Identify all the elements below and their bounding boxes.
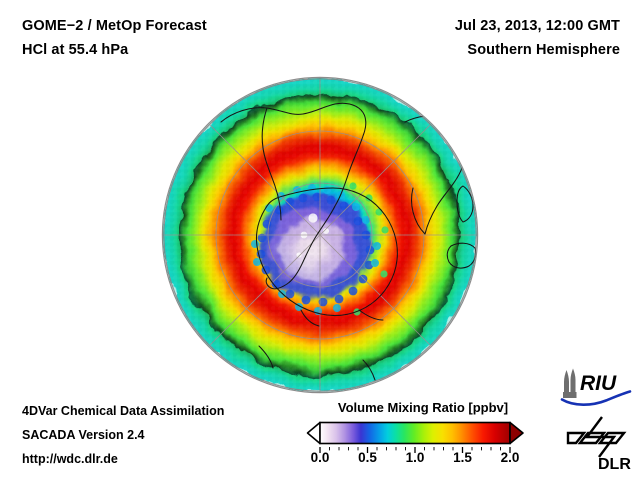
- figure-canvas: GOME−2 / MetOp Forecast HCl at 55.4 hPa …: [0, 0, 640, 480]
- cathedral-spires-icon: [563, 369, 577, 399]
- dlr-wordmark: DLR: [598, 456, 631, 473]
- colorbar-tick-4: 2.0: [501, 450, 520, 465]
- polar-map: [163, 78, 477, 392]
- colorbar-tick-3: 1.5: [453, 450, 472, 465]
- colorbar-tick-0: 0.0: [311, 450, 330, 465]
- globe-disc: [163, 78, 477, 392]
- riu-wordmark: RIU: [580, 372, 617, 395]
- hemisphere-label: Southern Hemisphere: [467, 42, 620, 58]
- field-layer: [163, 78, 477, 392]
- colorbar-tick-labels: 0.0 0.5 1.0 1.5 2.0: [286, 450, 558, 470]
- footer-url[interactable]: http://wdc.dlr.de: [22, 452, 118, 466]
- colorbar-tick-1: 0.5: [358, 450, 377, 465]
- riu-logo: RIU: [556, 368, 634, 406]
- dlr-logo: DLR: [562, 415, 634, 473]
- colorbar-tick-2: 1.0: [406, 450, 425, 465]
- footer-version: SACADA Version 2.4: [22, 428, 145, 442]
- instrument-title: GOME−2 / MetOp Forecast: [22, 18, 207, 34]
- colorbar: [306, 420, 538, 446]
- colorbar-title: Volume Mixing Ratio [ppbv]: [316, 400, 530, 415]
- colorbar-body: [320, 423, 510, 444]
- datetime-label: Jul 23, 2013, 12:00 GMT: [455, 18, 620, 34]
- colorbar-high-cap: [510, 423, 523, 444]
- footer-method: 4DVar Chemical Data Assimilation: [22, 404, 224, 418]
- dlr-mark-icon: [568, 417, 624, 457]
- colorbar-low-cap: [308, 423, 321, 444]
- species-subtitle: HCl at 55.4 hPa: [22, 42, 128, 58]
